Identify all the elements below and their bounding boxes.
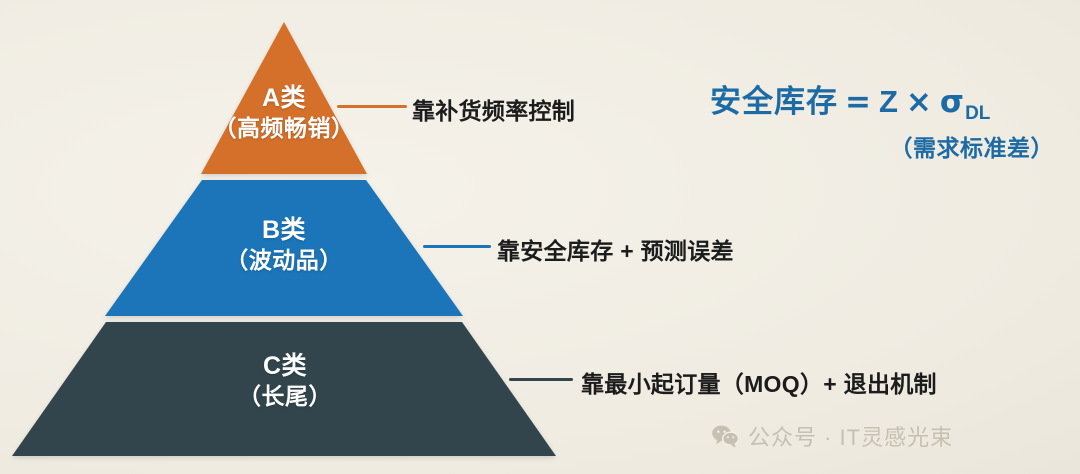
formula-z: Z: [879, 84, 899, 119]
formula-note: （需求标准差）: [700, 129, 1060, 163]
connector-line-tier-a: [337, 105, 407, 108]
formula-equals: =: [845, 84, 872, 120]
formula-times: ×: [906, 84, 933, 120]
connector-line-tier-b: [423, 245, 491, 248]
watermark-text: 公众号 · IT灵感光束: [748, 420, 953, 452]
tier-c-description: 靠最小起订量（MOQ）+ 退出机制: [581, 365, 937, 399]
safety-stock-formula: 安全库存=Z×σDL （需求标准差）: [700, 76, 1060, 163]
pyramid-tier-b-shape[interactable]: [105, 180, 463, 316]
formula-lhs: 安全库存: [710, 84, 838, 119]
formula-expression: 安全库存=Z×σDL: [710, 76, 1060, 125]
pyramid-tier-a-shape[interactable]: [201, 22, 367, 174]
connector-line-tier-c: [509, 378, 573, 381]
watermark: 公众号 · IT灵感光束: [712, 420, 953, 452]
tier-b-description: 靠安全库存 + 预测误差: [497, 232, 734, 266]
diagram-canvas: A类 （高频畅销） B类 （波动品） C类 （长尾） 靠补货频率控制 靠安全库存…: [0, 0, 1080, 474]
formula-sigma-subscript: DL: [965, 103, 990, 124]
pyramid-tier-c-shape[interactable]: [12, 322, 556, 456]
formula-sigma: σ: [940, 84, 965, 120]
wechat-icon: [712, 425, 739, 448]
tier-a-description: 靠补货频率控制: [412, 92, 575, 126]
